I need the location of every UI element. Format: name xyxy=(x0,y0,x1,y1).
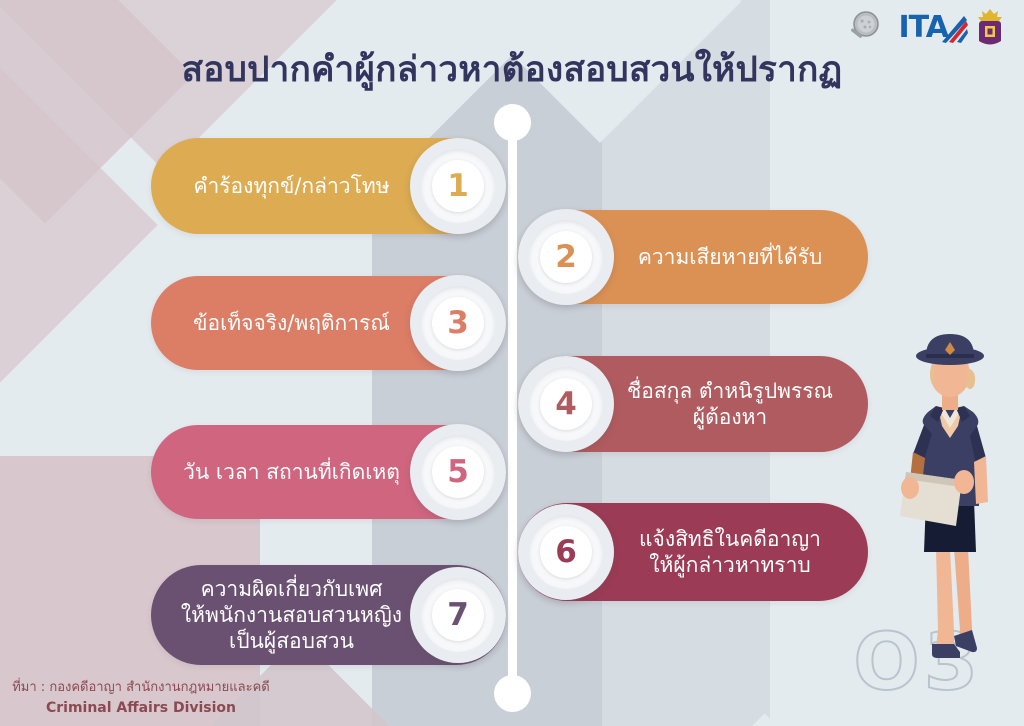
timeline-item-number-badge: 5 xyxy=(410,424,506,520)
timeline-item-6[interactable]: แจ้งสิทธิในคดีอาญา ให้ผู้กล่าวหาทราบ6 xyxy=(518,503,868,601)
timeline-item-number: 3 xyxy=(447,308,469,339)
timeline-item-label: ความผิดเกี่ยวกับเพศ ให้พนักงานสอบสวนหญิง… xyxy=(151,570,410,661)
timeline-item-5[interactable]: วัน เวลา สถานที่เกิดเหตุ5 xyxy=(151,425,506,519)
timeline-item-number: 1 xyxy=(447,171,469,202)
timeline-item-number: 2 xyxy=(555,242,577,273)
royal-thai-emblem-icon xyxy=(974,8,1006,48)
timeline-item-number-badge: 1 xyxy=(410,138,506,234)
timeline-item-label: วัน เวลา สถานที่เกิดเหตุ xyxy=(151,453,410,491)
timeline-item-label: ความเสียหายที่ได้รับ xyxy=(614,238,868,276)
source-footer-thai: ที่มา : กองคดีอาญา สำนักงานกฎหมายและคดี xyxy=(8,679,274,698)
logo-group: ITA xyxy=(848,8,1006,48)
timeline-item-number: 7 xyxy=(447,600,469,631)
timeline-item-number-badge: 7 xyxy=(410,567,506,663)
timeline-item-1[interactable]: คำร้องทุกข์/กล่าวโทษ1 xyxy=(151,138,506,234)
timeline-item-number: 4 xyxy=(555,389,577,420)
source-footer: ที่มา : กองคดีอาญา สำนักงานกฎหมายและคดี … xyxy=(8,679,274,718)
timeline-item-3[interactable]: ข้อเท็จจริง/พฤติการณ์3 xyxy=(151,276,506,370)
ita-swoosh-icon xyxy=(938,15,968,43)
timeline-item-label: แจ้งสิทธิในคดีอาญา ให้ผู้กล่าวหาทราบ xyxy=(614,520,868,585)
ita-logo: ITA xyxy=(898,13,964,43)
timeline-spine-top-dot xyxy=(494,104,531,141)
timeline-item-label: คำร้องทุกข์/กล่าวโทษ xyxy=(151,167,410,205)
timeline-item-label: ชื่อสกุล ตำหนิรูปพรรณ ผู้ต้องหา xyxy=(614,372,868,437)
timeline-item-number-badge: 2 xyxy=(518,209,614,305)
timeline-item-number-badge: 3 xyxy=(410,275,506,371)
timeline-item-7[interactable]: ความผิดเกี่ยวกับเพศ ให้พนักงานสอบสวนหญิง… xyxy=(151,565,506,665)
page-title: สอบปากคำผู้กล่าวหาต้องสอบสวนให้ปรากฏ xyxy=(0,42,1024,97)
magnifier-seal-icon xyxy=(848,9,888,47)
timeline-item-label: ข้อเท็จจริง/พฤติการณ์ xyxy=(151,304,410,342)
timeline-item-4[interactable]: ชื่อสกุล ตำหนิรูปพรรณ ผู้ต้องหา4 xyxy=(518,356,868,452)
source-footer-english: Criminal Affairs Division xyxy=(8,698,274,718)
timeline-item-number-badge: 4 xyxy=(518,356,614,452)
infographic-canvas: ITA สอบปากคำผู้กล่าวหาต้องสอบสวนให้ปรากฏ xyxy=(0,0,1024,726)
timeline-spine-bottom-dot xyxy=(494,675,531,712)
timeline-item-number-badge: 6 xyxy=(518,504,614,600)
timeline-item-number: 5 xyxy=(447,457,469,488)
timeline-item-2[interactable]: ความเสียหายที่ได้รับ2 xyxy=(518,210,868,304)
timeline-spine xyxy=(508,112,517,694)
timeline-item-number: 6 xyxy=(555,537,577,568)
female-police-officer-illustration xyxy=(880,330,1020,680)
